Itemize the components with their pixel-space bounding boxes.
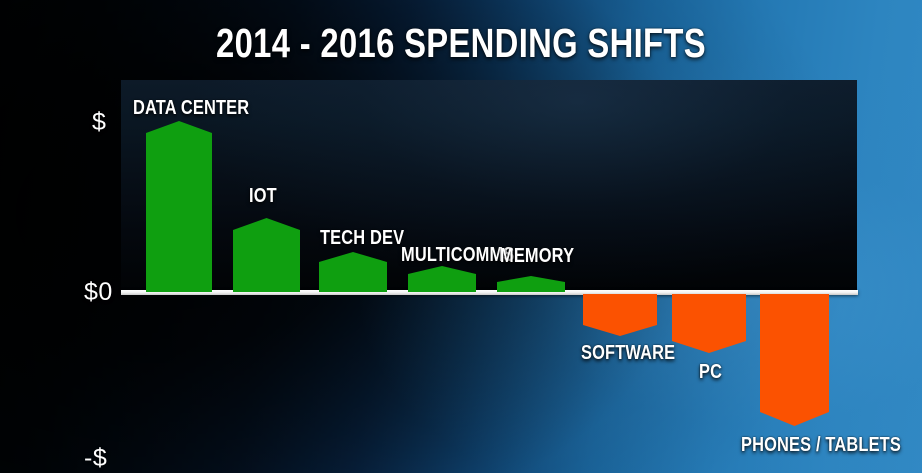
bar-tech-dev xyxy=(319,252,387,292)
bar-shape xyxy=(760,294,829,426)
bar-shape xyxy=(233,218,300,292)
axis-label-negative: -$ xyxy=(84,444,107,473)
bar-label-memory: MEMORY xyxy=(500,246,574,266)
bar-shape xyxy=(146,121,212,292)
bar-phones-tablets xyxy=(760,294,829,426)
page-title: 2014 - 2016 SPENDING SHIFTS xyxy=(92,22,830,65)
axis-label-zero: $0 xyxy=(84,278,113,307)
bar-label-phones-tablets: PHONES / TABLETS xyxy=(741,435,901,455)
bar-label-tech-dev: TECH DEV xyxy=(320,228,404,248)
bar-iot xyxy=(233,218,300,292)
axis-label-positive: $ xyxy=(92,108,106,137)
bar-data-center xyxy=(146,121,212,292)
bar-label-pc: PC xyxy=(699,362,722,382)
bar-pc xyxy=(672,294,746,353)
bar-label-multicomms: MULTICOMMS xyxy=(401,245,514,265)
bar-label-software: SOFTWARE xyxy=(581,343,675,363)
bar-label-iot: IOT xyxy=(249,186,277,206)
slide-canvas: 2014 - 2016 SPENDING SHIFTS $ $0 -$ DATA… xyxy=(0,0,922,473)
bar-shape xyxy=(408,266,476,292)
bar-multicomms xyxy=(408,266,476,292)
bar-shape xyxy=(497,276,565,292)
bar-label-data-center: DATA CENTER xyxy=(133,98,249,118)
bar-shape xyxy=(583,294,657,336)
bar-software xyxy=(583,294,657,336)
zero-axis-line xyxy=(121,290,858,295)
bar-shape xyxy=(672,294,746,353)
bar-memory xyxy=(497,276,565,292)
bar-shape xyxy=(319,252,387,292)
